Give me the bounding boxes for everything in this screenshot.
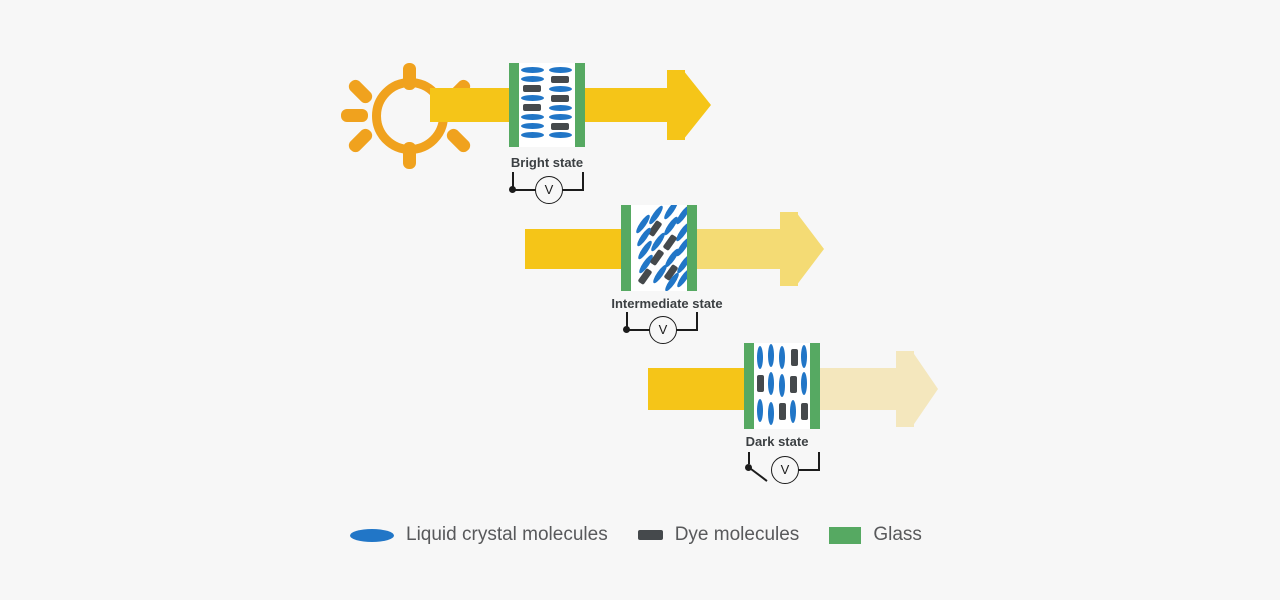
switch-lever-closed bbox=[750, 468, 767, 482]
legend: Liquid crystal molecules Dye molecules G… bbox=[350, 524, 952, 546]
legend-label: Liquid crystal molecules bbox=[406, 524, 608, 546]
dye-molecule bbox=[791, 349, 798, 366]
wire-bottom-right bbox=[798, 469, 820, 471]
cell-interior bbox=[754, 343, 810, 429]
voltmeter: V bbox=[771, 456, 799, 484]
beam-shaft bbox=[648, 368, 748, 410]
liquid-crystal-molecule bbox=[779, 346, 785, 369]
liquid-crystal-molecule bbox=[757, 346, 763, 369]
liquid-crystal-molecule bbox=[801, 372, 807, 395]
legend-label: Glass bbox=[873, 524, 922, 546]
dye-molecule bbox=[757, 375, 764, 392]
dye-molecule bbox=[779, 403, 786, 420]
liquid-crystal-molecule bbox=[768, 372, 774, 395]
legend-label: Dye molecules bbox=[675, 524, 800, 546]
dye-molecule bbox=[790, 376, 797, 393]
legend-item-liquid-crystal: Liquid crystal molecules bbox=[350, 524, 608, 546]
legend-item-dye: Dye molecules bbox=[638, 524, 800, 546]
liquid-crystal-molecule bbox=[779, 374, 785, 397]
legend-item-glass: Glass bbox=[829, 524, 922, 546]
glass-plate-left bbox=[744, 343, 754, 429]
liquid-crystal-molecule bbox=[768, 402, 774, 425]
state-label-dark: Dark state bbox=[682, 434, 872, 449]
dye-molecule bbox=[801, 403, 808, 420]
dye-swatch-icon bbox=[638, 530, 663, 540]
liquid-crystal-swatch-icon bbox=[350, 529, 394, 542]
glass-swatch-icon bbox=[829, 527, 861, 544]
liquid-crystal-molecule bbox=[757, 399, 763, 422]
wire-left-vertical bbox=[748, 452, 750, 464]
liquid-crystal-molecule bbox=[768, 344, 774, 367]
liquid-crystal-molecule bbox=[801, 345, 807, 368]
circuit-dark: V bbox=[741, 452, 831, 488]
liquid-crystal-molecule bbox=[790, 400, 796, 423]
lc-cell-dark bbox=[744, 343, 820, 429]
arrow-head bbox=[912, 351, 938, 427]
diagram-canvas: Bright state V bbox=[0, 0, 1280, 600]
glass-plate-right bbox=[810, 343, 820, 429]
panel-dark-state: Dark state V bbox=[0, 0, 1280, 500]
wire-right-vertical bbox=[818, 452, 820, 470]
